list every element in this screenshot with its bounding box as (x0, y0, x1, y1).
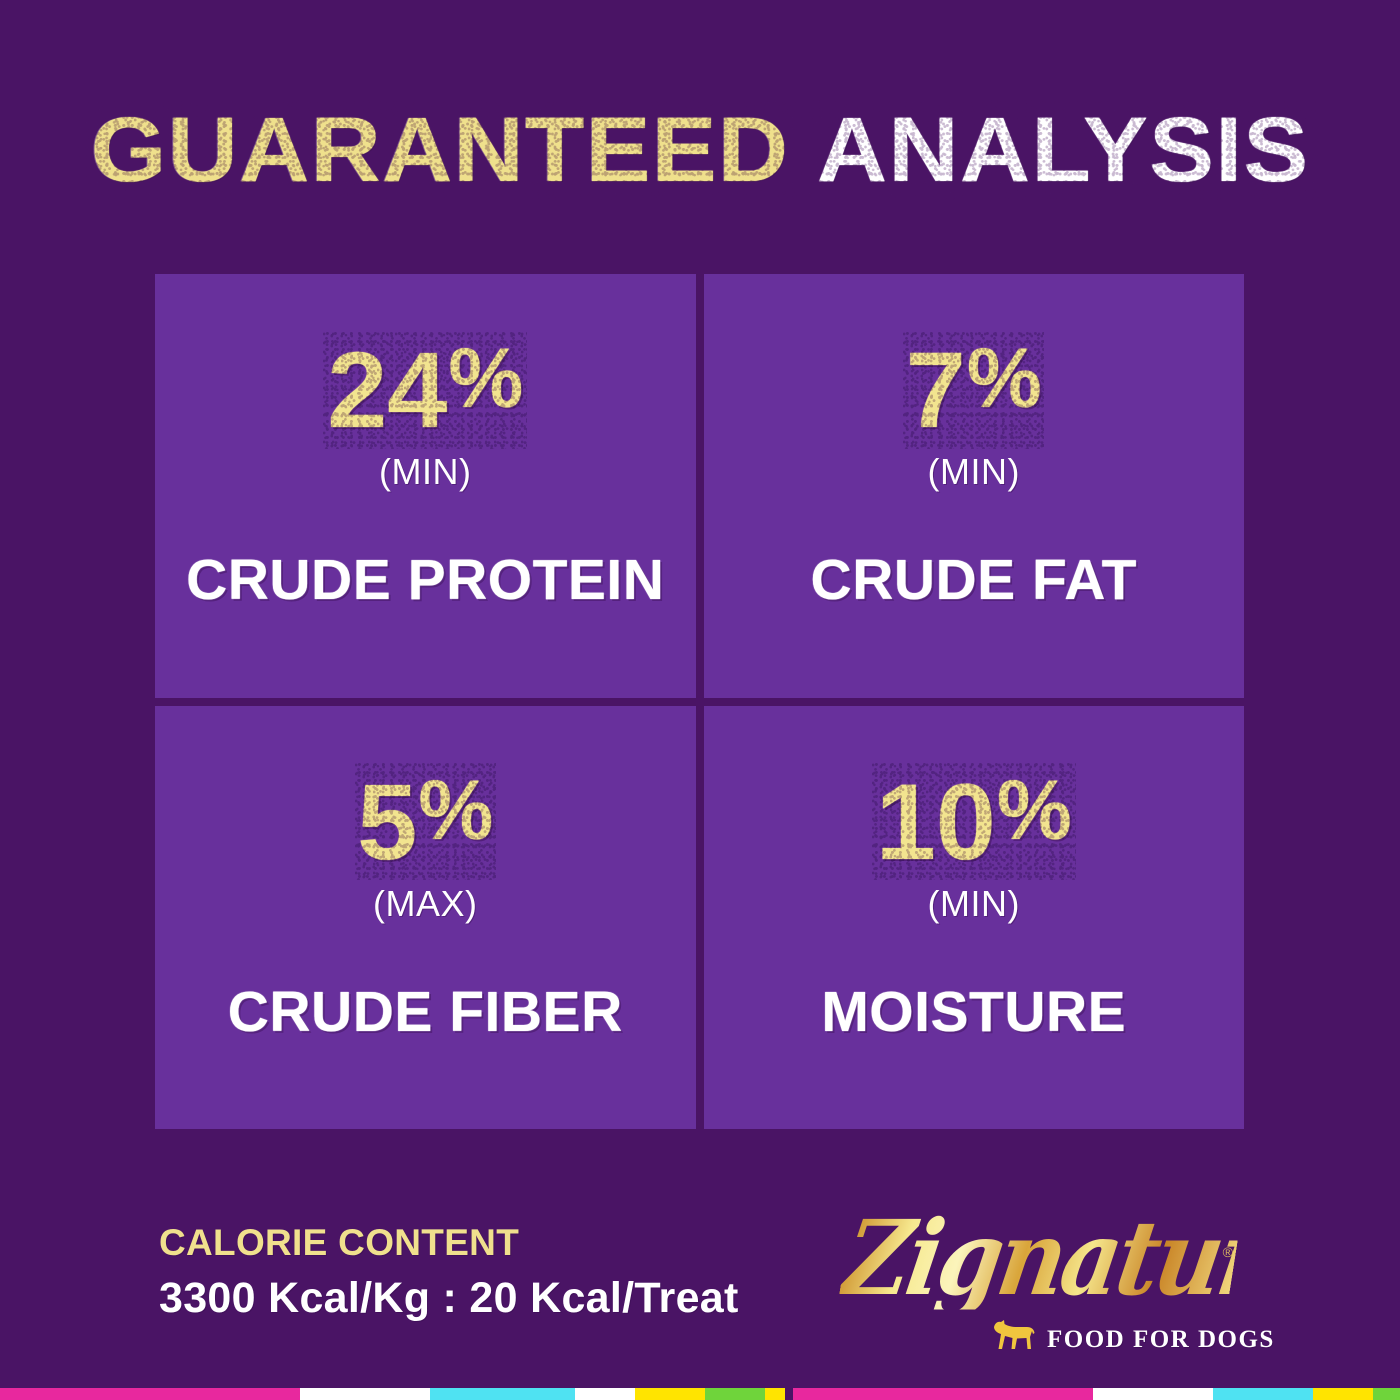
strip-segment (635, 1388, 705, 1400)
nutrient-label: CRUDE PROTEIN (155, 552, 696, 609)
title-word-analysis: ANALYSIS (817, 104, 1310, 196)
bottom-color-strip (0, 1388, 1400, 1400)
strip-segment (1373, 1388, 1400, 1400)
percent-sign: % (448, 331, 523, 425)
calorie-content-block: CALORIE CONTENT 3300 Kcal/Kg : 20 Kcal/T… (159, 1224, 739, 1320)
strip-segment (430, 1388, 575, 1400)
trademark-symbol: ® (1223, 1244, 1233, 1260)
nutrient-card-moisture: 10% (MIN) MOISTURE (704, 706, 1245, 1130)
dog-icon (991, 1318, 1037, 1352)
guaranteed-analysis-panel: GUARANTEEDANALYSIS 24% (MIN) CRUDE PROTE… (0, 0, 1400, 1400)
strip-segment (785, 1388, 793, 1400)
percent-sign: % (997, 763, 1072, 857)
strip-segment (1093, 1388, 1213, 1400)
nutrient-grid: 24% (MIN) CRUDE PROTEIN 7% (MIN) CRUDE F… (155, 274, 1244, 1129)
strip-segment (300, 1388, 430, 1400)
title-word-guaranteed: GUARANTEED (91, 104, 790, 196)
nutrient-percent-value: 5 (357, 761, 417, 882)
footer: CALORIE CONTENT 3300 Kcal/Kg : 20 Kcal/T… (155, 1224, 1245, 1354)
nutrient-qualifier: (MIN) (928, 886, 1020, 922)
nutrient-percent: 7% (906, 336, 1042, 444)
nutrient-label: CRUDE FAT (704, 552, 1245, 609)
nutrient-percent: 5% (357, 768, 493, 876)
nutrient-percent-value: 7 (906, 329, 966, 450)
brand-wordmark: Zignature (837, 1206, 1243, 1309)
strip-segment (793, 1388, 1093, 1400)
nutrient-qualifier: (MIN) (379, 454, 471, 490)
nutrient-percent: 24% (327, 336, 523, 444)
nutrient-label: CRUDE FIBER (155, 984, 696, 1041)
strip-segment (575, 1388, 635, 1400)
nutrient-card-crude-fat: 7% (MIN) CRUDE FAT (704, 274, 1245, 698)
nutrient-qualifier: (MIN) (928, 454, 1020, 490)
strip-segment (705, 1388, 765, 1400)
nutrient-percent-value: 10 (876, 761, 996, 882)
nutrient-card-crude-protein: 24% (MIN) CRUDE PROTEIN (155, 274, 696, 698)
strip-segment (0, 1388, 300, 1400)
calorie-content-heading: CALORIE CONTENT (159, 1224, 739, 1261)
nutrient-percent-value: 24 (327, 329, 447, 450)
nutrient-percent: 10% (876, 768, 1072, 876)
nutrient-label: MOISTURE (704, 984, 1245, 1041)
strip-segment (1213, 1388, 1313, 1400)
percent-sign: % (967, 331, 1042, 425)
nutrient-qualifier: (MAX) (373, 886, 478, 922)
brand-logo: Zignature ® FOOD FOR DOGS (845, 1210, 1235, 1360)
page-title: GUARANTEEDANALYSIS (0, 104, 1400, 196)
strip-segment (765, 1388, 785, 1400)
brand-tagline-row: FOOD FOR DOGS (991, 1318, 1275, 1352)
strip-segment (1313, 1388, 1373, 1400)
nutrient-card-crude-fiber: 5% (MAX) CRUDE FIBER (155, 706, 696, 1130)
brand-tagline: FOOD FOR DOGS (1047, 1327, 1275, 1352)
calorie-content-value: 3300 Kcal/Kg : 20 Kcal/Treat (159, 1277, 739, 1320)
percent-sign: % (418, 763, 493, 857)
